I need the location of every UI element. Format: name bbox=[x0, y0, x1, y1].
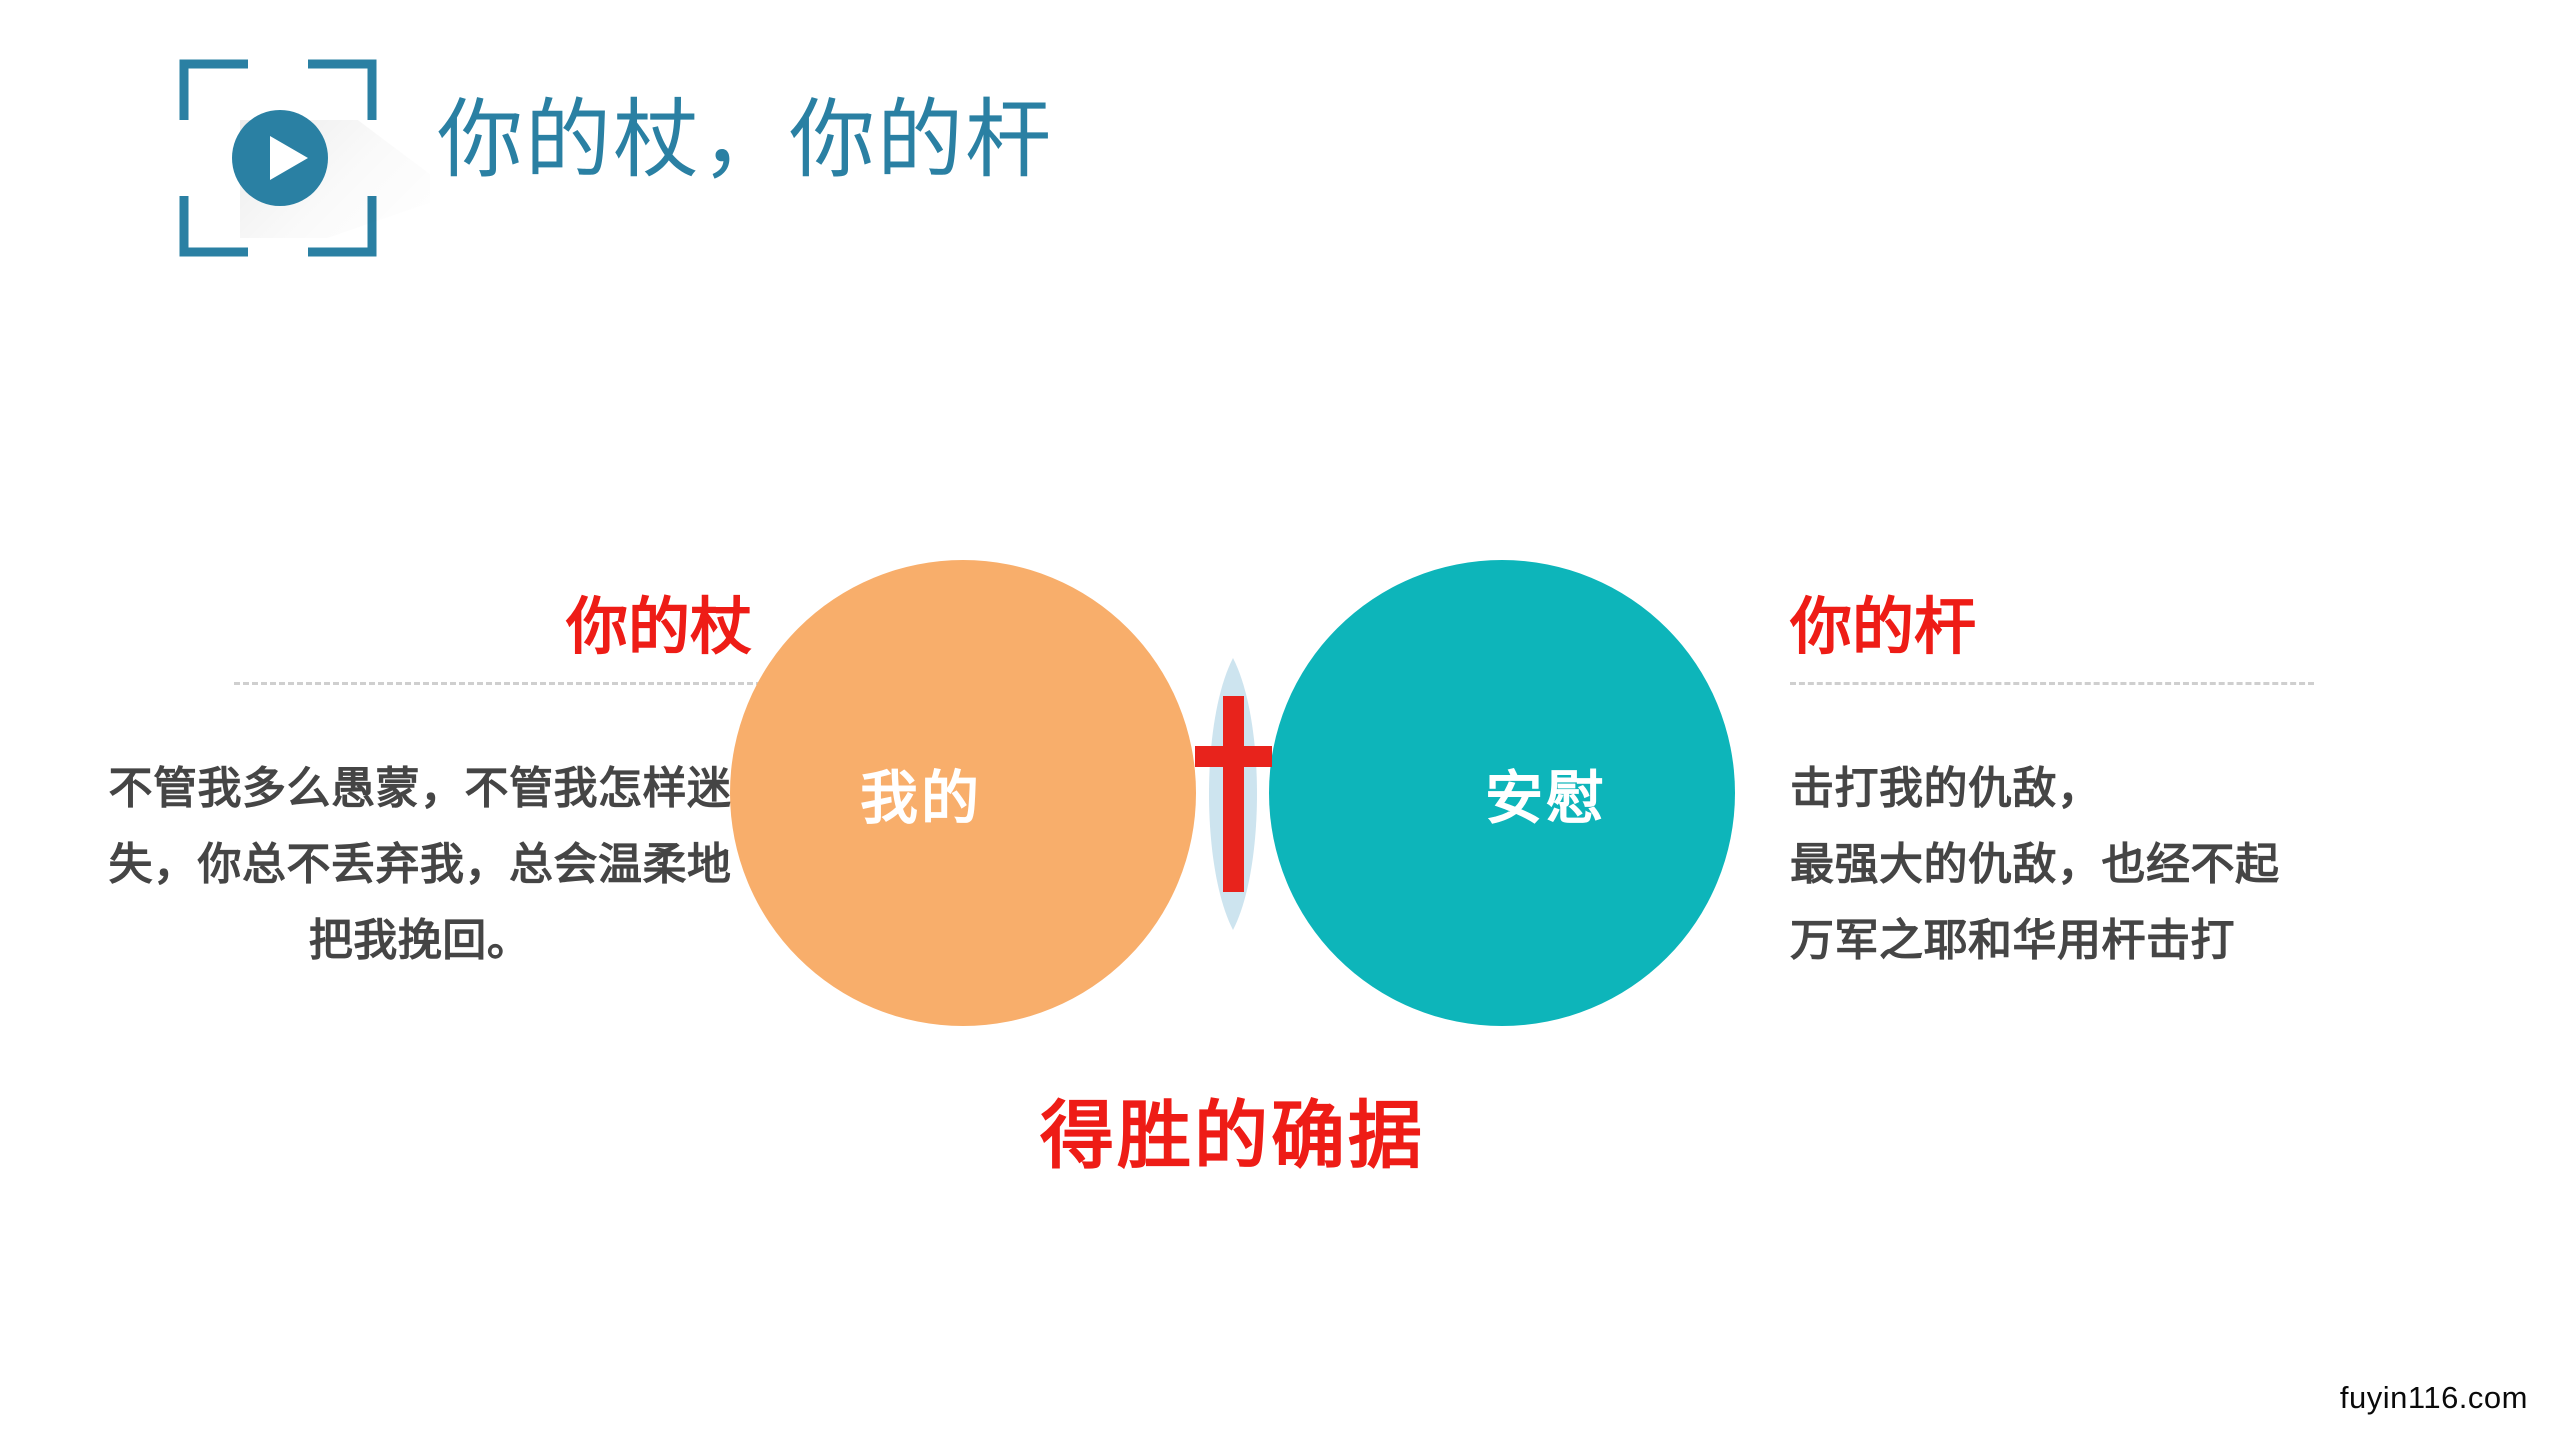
panel-left-divider bbox=[234, 682, 762, 685]
page-title: 你的杖，你的杆 bbox=[437, 80, 1053, 200]
venn-circle-right[interactable]: 安慰 bbox=[1269, 560, 1735, 1026]
panel-right-divider bbox=[1790, 682, 2314, 685]
cross-icon bbox=[1195, 696, 1272, 892]
panel-left: 你的杖 不管我多么愚蒙，不管我怎样迷失，你总不丢弃我，总会温柔地把我挽回。 bbox=[70, 590, 770, 979]
venn-circle-left[interactable]: 我的 bbox=[730, 560, 1196, 1026]
panel-right-heading: 你的杆 bbox=[1790, 590, 2490, 666]
panel-left-heading: 你的杖 bbox=[70, 590, 770, 666]
footer-watermark: fuyin116.com bbox=[2340, 1378, 2528, 1418]
logo-circle bbox=[232, 110, 328, 206]
venn-label-left: 我的 bbox=[860, 751, 982, 835]
panel-left-body-text: 不管我多么愚蒙，不管我怎样迷失，你总不丢弃我，总会温柔地把我挽回。 bbox=[88, 751, 752, 979]
panel-right: 你的杆 击打我的仇敌， 最强大的仇敌，也经不起 万军之耶和华用杆击打 bbox=[1790, 590, 2490, 979]
panel-left-body: 不管我多么愚蒙，不管我怎样迷失，你总不丢弃我，总会温柔地把我挽回。 bbox=[70, 751, 770, 979]
play-triangle-icon bbox=[270, 136, 308, 180]
panel-right-body-line: 击打我的仇敌， bbox=[1790, 751, 2490, 827]
panel-right-body: 击打我的仇敌， 最强大的仇敌，也经不起 万军之耶和华用杆击打 bbox=[1790, 751, 2490, 979]
venn-diagram: 我的 安慰 bbox=[730, 560, 1735, 1030]
panel-right-body-line: 万军之耶和华用杆击打 bbox=[1790, 903, 2490, 979]
slide-canvas: 你的杖，你的杆 你的杖 不管我多么愚蒙，不管我怎样迷失，你总不丢弃我，总会温柔地… bbox=[0, 0, 2560, 1440]
venn-caption: 得胜的确据 bbox=[730, 1088, 1735, 1184]
venn-label-right: 安慰 bbox=[1485, 751, 1607, 835]
slide-header: 你的杖，你的杆 bbox=[0, 0, 2560, 250]
venn-intersection-lens bbox=[1185, 658, 1281, 930]
panel-right-body-line: 最强大的仇敌，也经不起 bbox=[1790, 827, 2490, 903]
play-button-in-frame-icon[interactable] bbox=[178, 58, 378, 258]
